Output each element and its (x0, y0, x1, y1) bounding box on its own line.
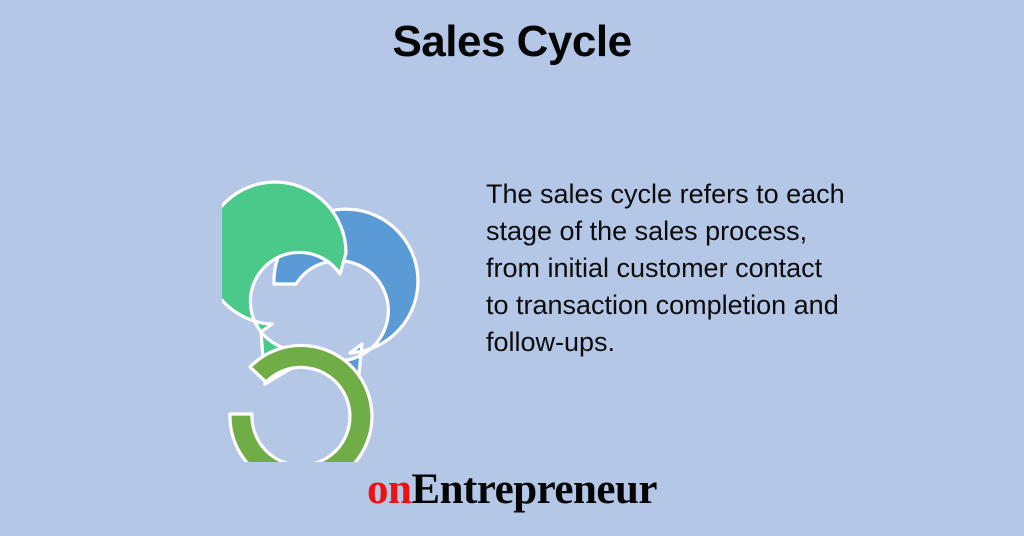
description-text: The sales cycle refers to each stage of … (486, 176, 846, 361)
cycle-diagram (222, 122, 432, 462)
brand-prefix: on (367, 466, 411, 513)
brand-logo: onEntrepreneur (0, 466, 1024, 513)
page-title: Sales Cycle (0, 18, 1024, 66)
brand-name: Entrepreneur (411, 466, 657, 513)
slide-canvas: Sales Cycle The sales cycle refers to ea… (0, 0, 1024, 536)
